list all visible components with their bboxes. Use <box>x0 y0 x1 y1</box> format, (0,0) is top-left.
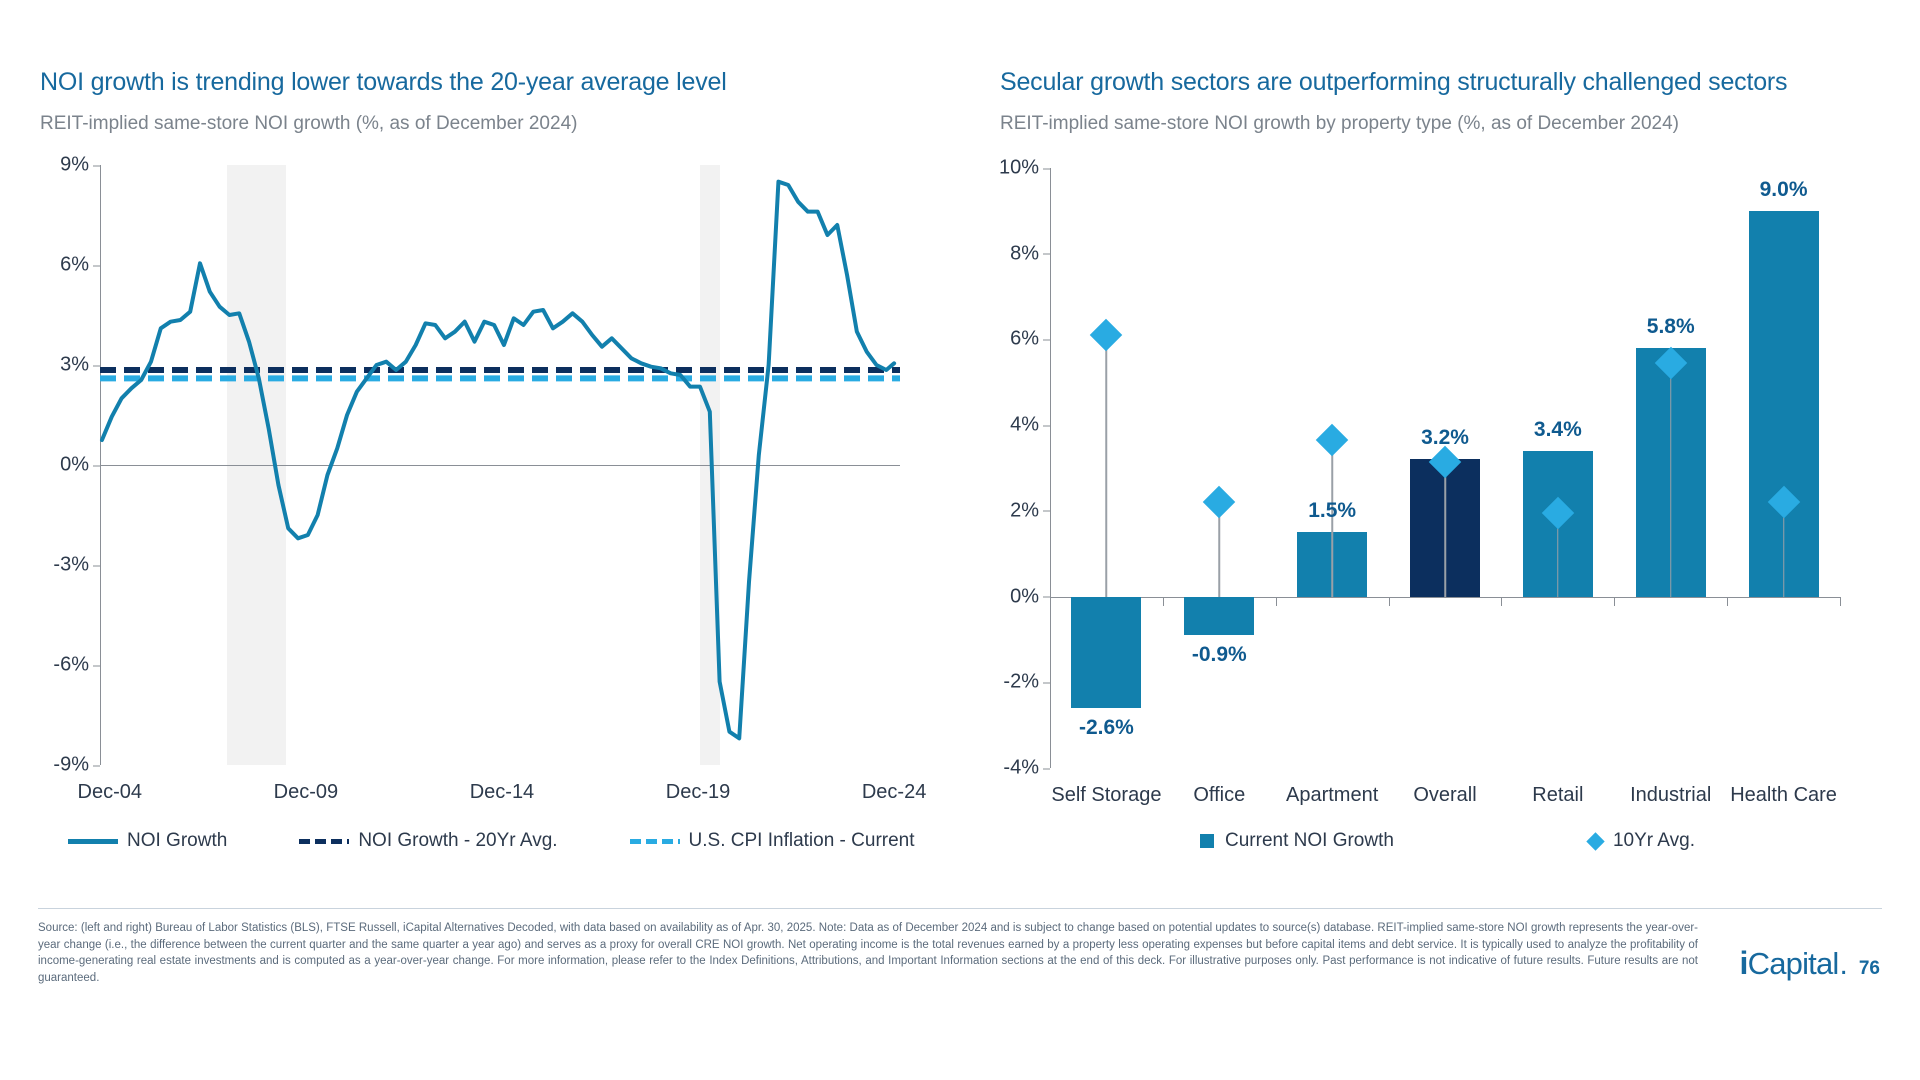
left-ytick-6%: 6% <box>60 254 100 277</box>
diamond-swatch-icon <box>1586 832 1604 850</box>
left-chart-subtitle: REIT-implied same-store NOI growth (%, a… <box>40 113 577 135</box>
left-ytick-0%: 0% <box>60 454 100 477</box>
left-legend-item-1[interactable]: NOI Growth <box>68 830 227 852</box>
bar-value-label: 3.4% <box>1534 418 1582 442</box>
left-series-svg <box>100 165 900 765</box>
line-swatch-icon <box>68 839 118 844</box>
noi-growth-line <box>102 182 894 739</box>
right-chart-legend: Current NOI Growth10Yr Avg. <box>1200 830 1695 852</box>
bar-value-label: 1.5% <box>1308 499 1356 523</box>
right-legend-item-1[interactable]: Current NOI Growth <box>1200 830 1394 852</box>
category-label-office: Office <box>1193 784 1245 807</box>
category-label-industrial: Industrial <box>1630 784 1711 807</box>
left-chart-panel: NOI growth is trending lower towards the… <box>0 0 960 900</box>
right-xtick-mark-end <box>1840 597 1841 606</box>
right-bar-plot: 10%8%6%4%2%0%-2%-4% -2.6%-0.9%1.5%3.2%3.… <box>1050 168 1840 768</box>
right-ytick-4%: 4% <box>1010 414 1050 437</box>
dashed-line-swatch-icon <box>630 839 680 844</box>
category-label-apartment: Apartment <box>1286 784 1378 807</box>
page-number: 76 <box>1859 958 1880 980</box>
legend-label: NOI Growth - 20Yr Avg. <box>358 830 557 852</box>
category-label-overall: Overall <box>1413 784 1476 807</box>
category-label-health-care: Health Care <box>1730 784 1837 807</box>
diamond-marker-self-storage[interactable] <box>1090 319 1123 352</box>
left-xtick-Dec-04: Dec-04 <box>78 781 142 804</box>
slide: NOI growth is trending lower towards the… <box>0 0 1920 1080</box>
left-chart-title: NOI growth is trending lower towards the… <box>40 68 727 97</box>
legend-label: NOI Growth <box>127 830 227 852</box>
left-ytick--9%: -9% <box>53 754 100 777</box>
brand-mark: iCapital <box>1740 945 1839 982</box>
right-ytick-8%: 8% <box>1010 242 1050 265</box>
left-xtick-Dec-14: Dec-14 <box>470 781 534 804</box>
diamond-marker-apartment[interactable] <box>1316 424 1349 457</box>
brand-i: i <box>1740 945 1748 981</box>
marker-stem <box>1670 363 1672 597</box>
legend-label: Current NOI Growth <box>1225 830 1394 852</box>
source-footnote: Source: (left and right) Bureau of Labor… <box>38 920 1698 987</box>
right-xtick-mark <box>1276 597 1277 606</box>
right-legend-item-2[interactable]: 10Yr Avg. <box>1589 830 1695 852</box>
left-legend-item-3[interactable]: U.S. CPI Inflation - Current <box>630 830 915 852</box>
bar-value-label: 5.8% <box>1647 315 1695 339</box>
right-zero-rule <box>1050 597 1840 598</box>
square-swatch-icon <box>1200 834 1214 848</box>
bar-office[interactable] <box>1184 597 1254 636</box>
left-legend-item-2[interactable]: NOI Growth - 20Yr Avg. <box>299 830 557 852</box>
right-ytick-2%: 2% <box>1010 499 1050 522</box>
bar-value-label: -2.6% <box>1079 716 1134 740</box>
right-ytick-6%: 6% <box>1010 328 1050 351</box>
left-ytick--3%: -3% <box>53 554 100 577</box>
marker-stem <box>1444 462 1446 597</box>
right-xtick-mark <box>1727 597 1728 606</box>
dashed-line-swatch-icon <box>299 839 349 844</box>
left-xtick-Dec-24: Dec-24 <box>862 781 926 804</box>
left-xtick-Dec-09: Dec-09 <box>274 781 338 804</box>
icapital-logo: iCapital . 76 <box>1740 945 1880 982</box>
legend-label: 10Yr Avg. <box>1613 830 1695 852</box>
bar-value-label: 9.0% <box>1760 178 1808 202</box>
right-ytick--4%: -4% <box>1003 757 1050 780</box>
right-ytick-0%: 0% <box>1010 585 1050 608</box>
right-y-axis-spine <box>1050 168 1051 768</box>
category-label-self-storage: Self Storage <box>1051 784 1161 807</box>
right-xtick-mark <box>1389 597 1390 606</box>
right-xtick-mark <box>1163 597 1164 606</box>
right-xtick-mark <box>1050 597 1051 606</box>
footer-divider <box>38 908 1882 909</box>
brand-dot: . <box>1840 948 1848 982</box>
left-ytick-3%: 3% <box>60 354 100 377</box>
left-chart-legend: NOI GrowthNOI Growth - 20Yr Avg.U.S. CPI… <box>68 830 915 852</box>
right-xtick-mark <box>1501 597 1502 606</box>
right-ytick-10%: 10% <box>999 157 1050 180</box>
diamond-marker-office[interactable] <box>1203 486 1236 519</box>
legend-label: U.S. CPI Inflation - Current <box>689 830 915 852</box>
right-chart-title: Secular growth sectors are outperforming… <box>1000 68 1787 97</box>
category-label-retail: Retail <box>1532 784 1583 807</box>
left-ytick-9%: 9% <box>60 154 100 177</box>
left-xtick-Dec-19: Dec-19 <box>666 781 730 804</box>
bar-self-storage[interactable] <box>1071 597 1141 708</box>
right-chart-subtitle: REIT-implied same-store NOI growth by pr… <box>1000 113 1679 135</box>
bar-value-label: 3.2% <box>1421 426 1469 450</box>
left-line-plot: 9%6%3%0%-3%-6%-9% Dec-04Dec-09Dec-14Dec-… <box>100 165 900 765</box>
right-xtick-mark <box>1614 597 1615 606</box>
marker-stem <box>1106 335 1108 596</box>
left-ytick--6%: -6% <box>53 654 100 677</box>
right-ytick--2%: -2% <box>1003 671 1050 694</box>
bar-value-label: -0.9% <box>1192 643 1247 667</box>
brand-capital: Capital <box>1748 946 1839 981</box>
